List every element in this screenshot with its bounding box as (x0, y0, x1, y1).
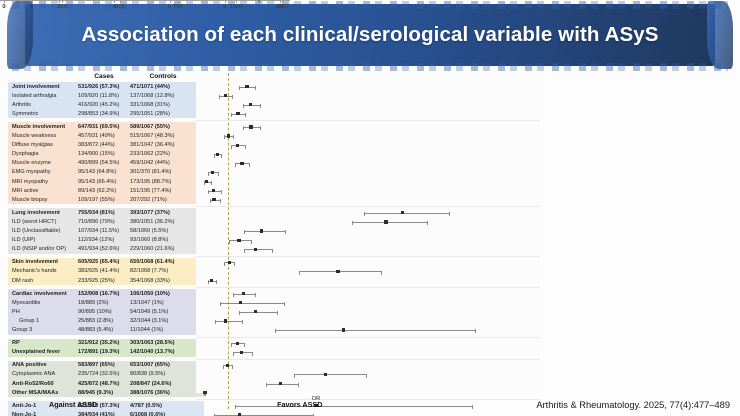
point-estimate-marker (227, 134, 230, 137)
point-estimate-marker (242, 292, 245, 295)
confidence-interval-bar (275, 330, 476, 331)
ci-cap-left (215, 320, 216, 324)
point-estimate-marker (401, 211, 404, 214)
table-row: Diffuse myalgias383/872 (44%)381/1047 (3… (8, 141, 204, 150)
ci-cap-right (475, 329, 476, 333)
confidence-interval-bar (239, 312, 279, 313)
row-cases-value: 134/900 (15%) (78, 151, 130, 157)
ci-cap-right (260, 126, 261, 130)
ci-cap-right (232, 95, 233, 99)
ci-cap-left (219, 95, 220, 99)
row-cases-value: 95/143 (66.4%) (78, 179, 130, 185)
ci-cap-left (231, 343, 232, 347)
row-cases-value: 490/899 (54.5%) (78, 160, 130, 166)
table-row: Symmetric298/853 (34.9%)295/1051 (28%) (8, 109, 204, 118)
row-cases-value: 90/895 (10%) (78, 309, 130, 315)
row-controls-value: 93/1060 (8.8%) (130, 237, 200, 243)
row-label: Myocarditis (8, 300, 78, 306)
ci-cap-left (243, 104, 244, 108)
point-estimate-marker (236, 144, 239, 147)
page-title: Association of each clinical/serological… (25, 4, 715, 66)
point-estimate-marker (279, 382, 282, 385)
row-label: Non-Jo-1 (8, 412, 78, 416)
row-cases-value: 605/925 (65.4%) (78, 259, 130, 265)
row-label: Muscle weakness (8, 133, 78, 139)
row-label: Unexplained fever (8, 349, 78, 355)
row-controls-value: 11/1044 (1%) (130, 327, 200, 333)
table-row: Isolated arthralgia109/920 (11.8%)137/10… (8, 91, 204, 100)
confidence-interval-bar (215, 321, 243, 322)
table-row: ILD (UIP)112/934 (12%)93/1060 (8.8%) (8, 236, 204, 245)
row-cases-value: 109/197 (55%) (78, 197, 130, 203)
ci-cap-left (231, 145, 232, 149)
slide-root: Association of each clinical/serological… (0, 0, 740, 416)
ci-cap-left (208, 190, 209, 194)
row-label: ILD (Unclassifiable) (8, 228, 78, 234)
point-estimate-marker (342, 328, 345, 331)
row-cases-value: 383/872 (44%) (78, 142, 130, 148)
row-label: Symmetric (8, 111, 78, 117)
axis-tick-label: 500 (115, 4, 125, 10)
point-estimate-marker (212, 189, 215, 192)
table-row: Cytoplasmic ANA235/724 (32.5%)80/838 (9.… (8, 370, 204, 379)
ci-cap-left (233, 352, 234, 356)
row-label: Diffuse myalgias (8, 142, 78, 148)
ci-cap-left (239, 86, 240, 90)
row-controls-value: 4/787 (0.5%) (130, 403, 200, 409)
section-separator (196, 120, 540, 121)
row-label: Group 3 (8, 327, 78, 333)
point-estimate-marker (237, 239, 240, 242)
point-estimate-marker (236, 112, 239, 115)
row-cases-value: 233/925 (25%) (78, 278, 130, 284)
row-cases-value: 235/724 (32.5%) (78, 371, 130, 377)
confidence-interval-bar (266, 384, 299, 385)
row-controls-value: 142/1040 (13.7%) (130, 349, 200, 355)
axis-line (0, 0, 290, 1)
row-controls-value: 354/1068 (33%) (130, 278, 200, 284)
ci-cap-left (210, 199, 211, 203)
confidence-interval-bar (299, 271, 382, 272)
row-label: Other MSA/MAAs (8, 390, 78, 396)
point-estimate-marker (224, 94, 227, 97)
row-controls-value: 207/292 (71%) (130, 197, 200, 203)
table-row: Joint involvement531/926 (57.3%)471/1071… (8, 82, 204, 91)
row-controls-value: 58/1060 (5.5%) (130, 228, 200, 234)
ci-cap-right (260, 104, 261, 108)
row-cases-value: 172/891 (19.3%) (78, 349, 130, 355)
axis-tick-label: 750 (173, 4, 183, 10)
point-estimate-marker (228, 261, 231, 264)
row-controls-value: 137/1068 (12.8%) (130, 93, 200, 99)
ci-cap-right (242, 320, 243, 324)
ci-cap-right (216, 280, 217, 284)
ci-cap-right (221, 154, 222, 158)
axis-tick-label: 6 (168, 4, 171, 10)
point-estimate-marker (240, 162, 243, 165)
ci-cap-right (366, 374, 367, 378)
table-row: ILD (Unclassifiable)107/934 (11.5%)58/10… (8, 227, 204, 236)
table-row: ILD (NSIP and/or OP)491/934 (52.6%)229/1… (8, 245, 204, 254)
ci-cap-left (214, 154, 215, 158)
row-controls-value: 32/1044 (3.1%) (130, 318, 200, 324)
ci-cap-right (251, 240, 252, 244)
ci-cap-right (427, 221, 428, 225)
table-row: Anti-Jo-1521/910 (57.3%)4/787 (0.5%) (8, 401, 204, 410)
row-cases-value: 583/897 (65%) (78, 362, 130, 368)
row-cases-value: 755/934 (81%) (78, 210, 130, 216)
table-row: DM rash233/925 (25%)354/1068 (33%) (8, 276, 204, 285)
row-controls-value: 381/1047 (36.4%) (130, 142, 200, 148)
row-controls-value: 471/1071 (44%) (130, 84, 200, 90)
point-estimate-marker (254, 310, 257, 313)
ci-cap-right (245, 145, 246, 149)
row-cases-value: 491/934 (52.6%) (78, 246, 130, 252)
row-cases-value: 425/872 (48.7%) (78, 381, 130, 387)
section-separator (196, 206, 540, 207)
ci-cap-right (449, 212, 450, 216)
table-row: Muscle biopsy109/197 (55%)207/292 (71%) (8, 195, 204, 204)
row-cases-value: 95/143 (64.8%) (78, 169, 130, 175)
point-estimate-marker (249, 103, 252, 106)
ci-cap-left (220, 302, 221, 306)
row-label: Cytoplasmic ANA (8, 371, 78, 377)
row-cases-value: 48/883 (5.4%) (78, 327, 130, 333)
axis-tick-label: 8 (223, 4, 226, 10)
row-controls-value: 380/1051 (36.2%) (130, 219, 200, 225)
row-label: Cardiac involvement (8, 291, 78, 297)
confidence-interval-bar (352, 222, 428, 223)
table-row: Anti-Ro52/Ro60425/872 (48.7%)208/847 (24… (8, 379, 204, 388)
ci-cap-right (249, 163, 250, 167)
axis-break-icon: ⌇ (256, 0, 262, 6)
table-row: MRI active89/143 (62.2%)151/195 (77.4%) (8, 186, 204, 195)
footer-favors-assd: Favors ASSD (277, 400, 322, 409)
point-estimate-marker (249, 125, 252, 128)
table-row: Arthritis416/920 (45.2%)331/1068 (31%) (8, 100, 204, 109)
table-row: Skin involvement605/925 (65.4%)650/1068 … (8, 258, 204, 267)
axis-tick-label: 1000 (230, 4, 243, 10)
ci-cap-right (218, 172, 219, 176)
row-label: Lung involvement (8, 210, 78, 216)
row-label: Muscle enzyme (8, 160, 78, 166)
row-label: PH (8, 309, 78, 315)
row-label: ANA positive (8, 362, 78, 368)
ci-cap-right (211, 181, 212, 185)
row-label: Skin involvement (8, 259, 78, 265)
table-row: PH90/895 (10%)54/1049 (5.1%) (8, 307, 204, 316)
row-controls-value: 229/1060 (21.6%) (130, 246, 200, 252)
ci-cap-left (208, 172, 209, 176)
table-row: EMG myopathy95/143 (64.8%)301/370 (81.4%… (8, 168, 204, 177)
confidence-interval-bar (244, 249, 274, 250)
table-row: Muscle enzyme490/899 (54.5%)459/1042 (44… (8, 159, 204, 168)
row-cases-value: 107/934 (11.5%) (78, 228, 130, 234)
table-row: Group 125/883 (2.8%)32/1044 (3.1%) (8, 316, 204, 325)
ci-cap-left (224, 135, 225, 139)
row-cases-value: 383/925 (41.4%) (78, 268, 130, 274)
ci-cap-left (239, 311, 240, 315)
table-row: ILD (worst HRCT)710/896 (79%)380/1051 (3… (8, 217, 204, 226)
row-cases-value: 112/934 (12%) (78, 237, 130, 243)
confidence-interval-bar (294, 374, 366, 375)
ci-cap-right (245, 113, 246, 117)
table-row: RP321/912 (35.2%)303/1063 (28.5%) (8, 339, 204, 348)
row-label: Mechanic's hands (8, 268, 78, 274)
confidence-interval-bar (235, 406, 474, 407)
ci-cap-left (243, 126, 244, 130)
point-estimate-marker (324, 373, 327, 376)
column-header-controls: Controls (132, 73, 194, 80)
ci-cap-left (208, 280, 209, 284)
section-separator (196, 399, 540, 400)
ci-cap-right (233, 135, 234, 139)
row-cases-value: 18/889 (2%) (78, 300, 130, 306)
row-label: Dysphagia (8, 151, 78, 157)
confidence-interval-bar (244, 231, 286, 232)
row-controls-value: 393/1077 (37%) (130, 210, 200, 216)
row-label: EMG myopathy (8, 169, 78, 175)
ci-cap-left (235, 405, 236, 409)
row-controls-value: 650/1068 (61.4%) (130, 259, 200, 265)
column-header-cases: Cases (80, 73, 128, 80)
row-label: MRI myopathy (8, 179, 78, 185)
point-estimate-marker (336, 270, 339, 273)
table-row: Lung involvement755/934 (81%)393/1077 (3… (8, 208, 204, 217)
row-label: Joint involvement (8, 84, 78, 90)
axis-tick-label: 2000 (276, 4, 289, 10)
row-label: ILD (worst HRCT) (8, 219, 78, 225)
table-row: Muscle involvement647/931 (69.5%)589/106… (8, 122, 204, 131)
row-controls-value: 6/1068 (0.6%) (130, 412, 200, 416)
row-cases-value: 152/908 (16.7%) (78, 291, 130, 297)
point-estimate-marker (203, 391, 206, 394)
row-cases-value: 89/143 (62.2%) (78, 188, 130, 194)
section-separator (196, 256, 540, 257)
row-label: MRI active (8, 188, 78, 194)
section-separator (196, 359, 540, 360)
row-cases-value: 88/945 (9.3%) (78, 390, 130, 396)
ci-cap-left (266, 383, 267, 387)
row-label: Muscle involvement (8, 124, 78, 130)
ci-cap-right (252, 352, 253, 356)
row-label: Arthritis (8, 102, 78, 108)
row-controls-value: 173/195 (88.7%) (130, 179, 200, 185)
row-cases-value: 647/931 (69.5%) (78, 124, 130, 130)
row-cases-value: 321/912 (35.2%) (78, 340, 130, 346)
axis-tick-label: 1 (30, 4, 33, 10)
ci-cap-right (234, 262, 235, 266)
row-cases-value: 531/926 (57.3%) (78, 84, 130, 90)
row-controls-value: 388/1076 (36%) (130, 390, 200, 396)
ci-cap-right (298, 383, 299, 387)
point-estimate-marker (254, 248, 257, 251)
row-label: ILD (UIP) (8, 237, 78, 243)
row-label: Anti-Ro52/Ro60 (8, 381, 78, 387)
footer-against-assd: Against ASSD (49, 400, 97, 409)
table-row: Myocarditis18/889 (2%)13/1047 (1%) (8, 298, 204, 307)
ci-cap-left (244, 249, 245, 253)
row-controls-value: 303/1063 (28.5%) (130, 340, 200, 346)
ci-cap-left (294, 374, 295, 378)
row-controls-value: 151/195 (77.4%) (130, 188, 200, 194)
row-controls-value: 589/1067 (55%) (130, 124, 200, 130)
ci-cap-right (255, 293, 256, 297)
point-estimate-marker (240, 351, 243, 354)
point-estimate-marker (212, 198, 215, 201)
title-banner: Association of each clinical/serological… (0, 0, 740, 72)
axis-tick-label: 1 (2, 4, 5, 10)
point-estimate-marker (245, 85, 248, 88)
ci-cap-left (223, 365, 224, 369)
row-label: RP (8, 340, 78, 346)
axis-tick-label: 250 (57, 4, 67, 10)
row-controls-value: 459/1042 (44%) (130, 160, 200, 166)
point-estimate-marker (239, 301, 242, 304)
ci-cap-left (275, 329, 276, 333)
ci-cap-left (224, 262, 225, 266)
table-row: Non-Jo-1384/934 (41%)6/1068 (0.6%) (8, 410, 204, 416)
row-cases-value: 457/931 (49%) (78, 133, 130, 139)
row-controls-value: 54/1049 (5.1%) (130, 309, 200, 315)
row-cases-value: 298/853 (34.9%) (78, 111, 130, 117)
point-estimate-marker (211, 171, 214, 174)
point-estimate-marker (236, 342, 239, 345)
row-label: Isolated arthralgia (8, 93, 78, 99)
row-label: Muscle biopsy (8, 197, 78, 203)
table-row: Dysphagia134/900 (15%)233/1062 (22%) (8, 150, 204, 159)
row-controls-value: 301/370 (81.4%) (130, 169, 200, 175)
section-separator (196, 287, 540, 288)
ci-cap-right (255, 86, 256, 90)
row-controls-value: 331/1068 (31%) (130, 102, 200, 108)
point-estimate-marker (210, 279, 213, 282)
ci-cap-right (472, 405, 473, 409)
row-cases-value: 710/896 (79%) (78, 219, 130, 225)
section-separator (196, 337, 540, 338)
ci-cap-left (352, 221, 353, 225)
ci-cap-left (364, 212, 365, 216)
ci-cap-left (244, 230, 245, 234)
ci-cap-left (233, 293, 234, 297)
ci-cap-right (285, 230, 286, 234)
ci-cap-left (229, 240, 230, 244)
ci-cap-right (381, 271, 382, 275)
ci-cap-left (231, 113, 232, 117)
confidence-interval-bar (220, 303, 285, 304)
confidence-interval-bar (364, 213, 449, 214)
point-estimate-marker (216, 153, 219, 156)
forest-plot (196, 73, 540, 393)
point-estimate-marker (205, 180, 208, 183)
table-row: Cardiac involvement152/908 (16.7%)106/10… (8, 289, 204, 298)
row-controls-value: 515/1067 (48.3%) (130, 133, 200, 139)
row-controls-value: 80/838 (9.5%) (130, 371, 200, 377)
ci-cap-right (272, 249, 273, 253)
ci-cap-right (220, 199, 221, 203)
ci-cap-right (284, 302, 285, 306)
row-cases-value: 25/883 (2.8%) (78, 318, 130, 324)
ci-cap-right (277, 311, 278, 315)
row-cases-value: 109/920 (11.8%) (78, 93, 130, 99)
table-row: MRI myopathy95/143 (66.4%)173/195 (88.7%… (8, 177, 204, 186)
row-controls-value: 82/1068 (7.7%) (130, 268, 200, 274)
row-controls-value: 233/1062 (22%) (130, 151, 200, 157)
ci-cap-right (221, 190, 222, 194)
row-controls-value: 295/1051 (28%) (130, 111, 200, 117)
row-controls-value: 106/1050 (10%) (130, 291, 200, 297)
row-label: Group 1 (8, 318, 78, 324)
row-controls-value: 653/1007 (65%) (130, 362, 200, 368)
ci-cap-right (244, 343, 245, 347)
ci-cap-left (235, 163, 236, 167)
point-estimate-marker (260, 229, 263, 232)
table-row: Muscle weakness457/931 (49%)515/1067 (48… (8, 132, 204, 141)
table-row: Mechanic's hands383/925 (41.4%)82/1068 (… (8, 267, 204, 276)
citation-text: Arthritis & Rheumatology. 2025, 77(4):47… (536, 400, 730, 410)
row-label: DM rash (8, 278, 78, 284)
row-controls-value: 13/1047 (1%) (130, 300, 200, 306)
table-row: Other MSA/MAAs88/945 (9.3%)388/1076 (36%… (8, 388, 204, 397)
variable-table: Cases Controls Joint involvement531/926 … (8, 73, 204, 393)
row-cases-value: 416/920 (45.2%) (78, 102, 130, 108)
table-row: ANA positive583/897 (65%)653/1007 (65%) (8, 361, 204, 370)
point-estimate-marker (226, 364, 229, 367)
ci-cap-right (232, 365, 233, 369)
point-estimate-marker (384, 220, 387, 223)
row-cases-value: 384/934 (41%) (78, 412, 130, 416)
table-row: Group 348/883 (5.4%)11/1044 (1%) (8, 326, 204, 335)
ci-cap-left (299, 271, 300, 275)
table-row: Unexplained fever172/891 (19.3%)142/1040… (8, 348, 204, 357)
row-label: ILD (NSIP and/or OP) (8, 246, 78, 252)
row-controls-value: 208/847 (24.6%) (130, 381, 200, 387)
point-estimate-marker (224, 319, 227, 322)
